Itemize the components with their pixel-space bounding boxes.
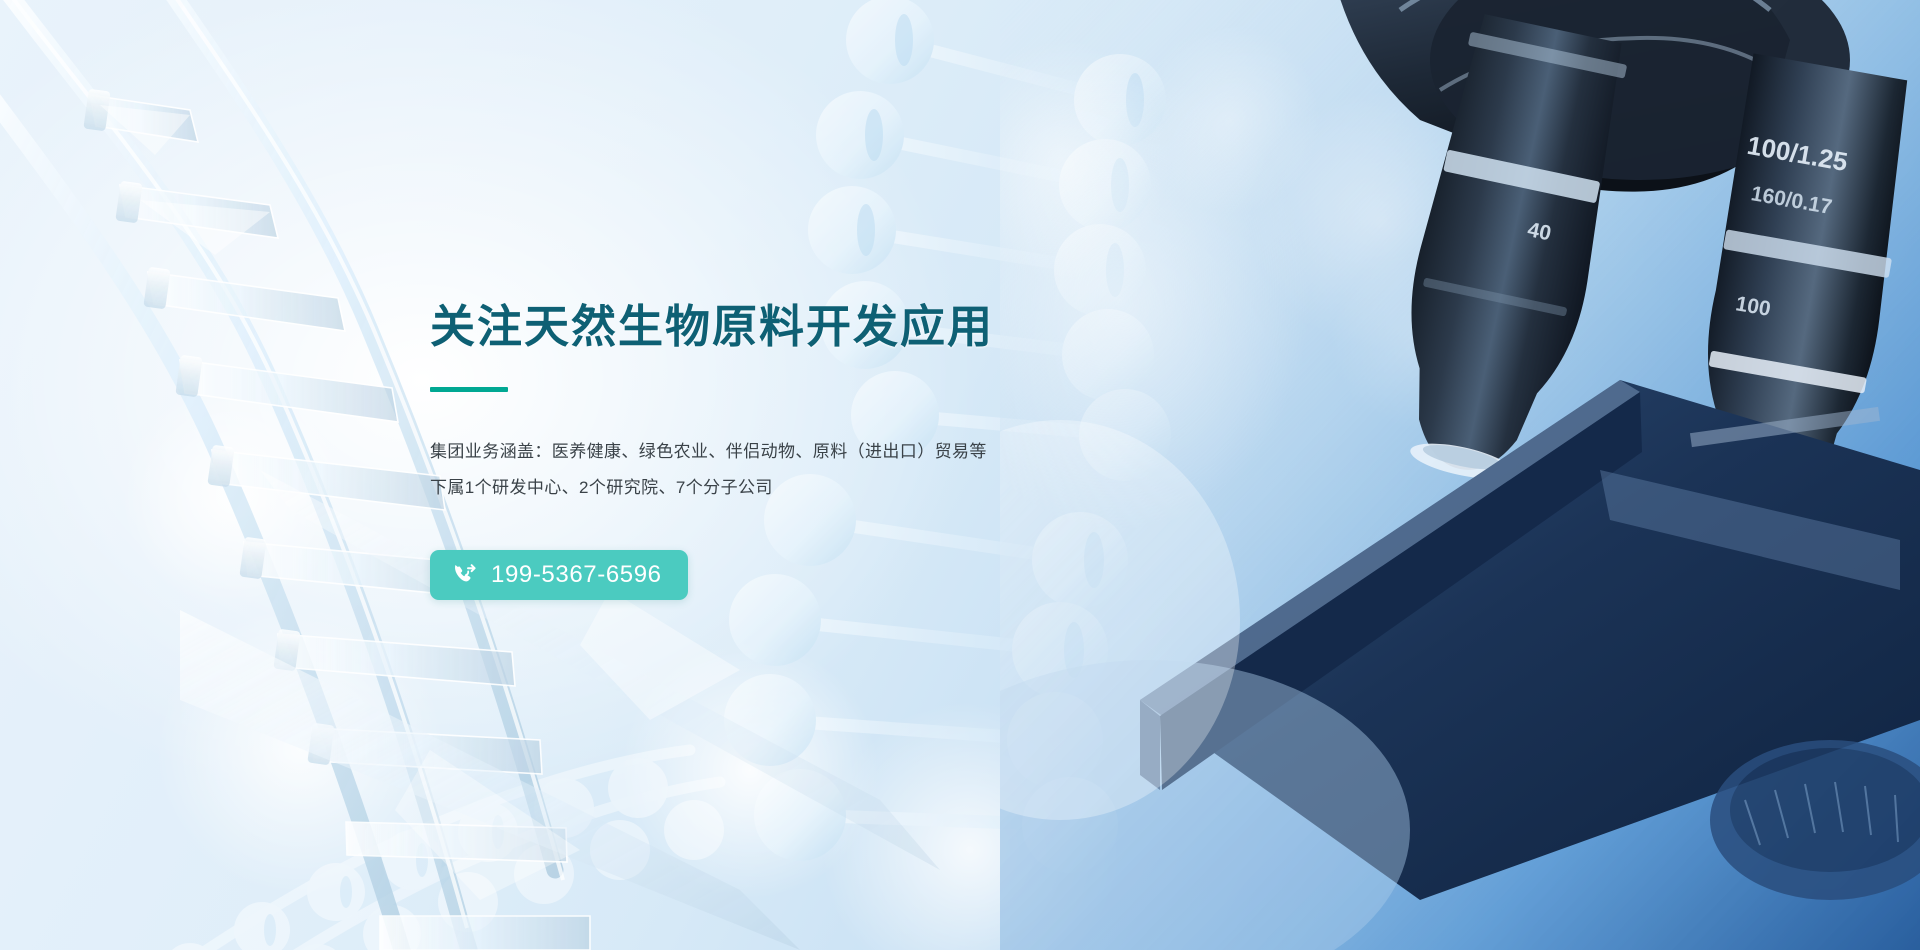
- lens-marking-160-017: 160/0.17: [1749, 182, 1834, 219]
- lens-marking-40: 40: [1526, 218, 1554, 245]
- hero-banner: 40 100/1.25 160/0.17 100: [0, 0, 1920, 950]
- hero-description-line-1: 集团业务涵盖：医养健康、绿色农业、伴侣动物、原料（进出口）贸易等: [430, 434, 1250, 470]
- lens-marking-100: 100: [1734, 292, 1773, 321]
- phone-number-label: 199-5367-6596: [491, 563, 662, 587]
- title-divider: [430, 387, 508, 392]
- lens-marking-100-125: 100/1.25: [1745, 130, 1850, 177]
- phone-outgoing-icon: [452, 561, 478, 590]
- call-phone-button[interactable]: 199-5367-6596: [430, 550, 688, 600]
- hero-description: 集团业务涵盖：医养健康、绿色农业、伴侣动物、原料（进出口）贸易等 下属1个研发中…: [430, 434, 1250, 505]
- page-title: 关注天然生物原料开发应用: [430, 300, 1250, 353]
- dna-helix-lower-icon: [30, 560, 730, 950]
- hero-description-line-2: 下属1个研发中心、2个研究院、7个分子公司: [430, 470, 1250, 506]
- hero-content: 关注天然生物原料开发应用 集团业务涵盖：医养健康、绿色农业、伴侣动物、原料（进出…: [430, 300, 1250, 600]
